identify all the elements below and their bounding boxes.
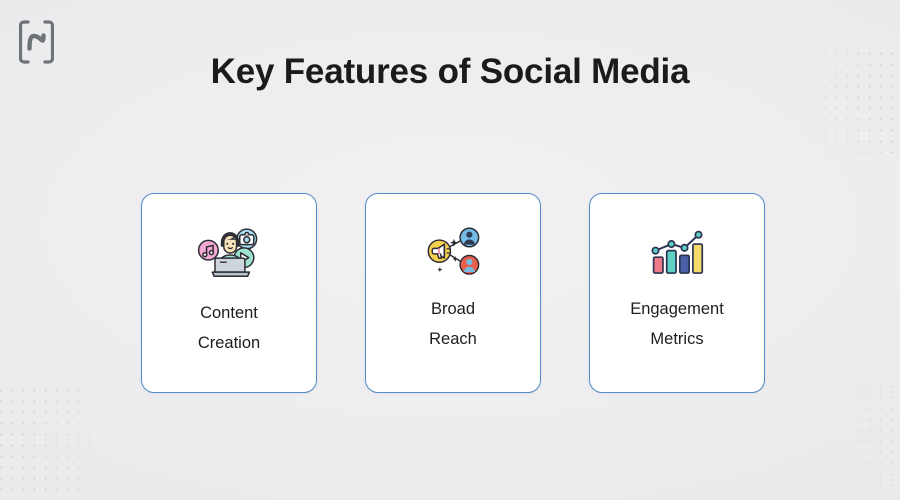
broad-reach-icon: [423, 212, 483, 292]
feature-card-label: Content Creation: [198, 298, 260, 358]
content-creation-icon: [195, 210, 263, 296]
feature-card-broad-reach[interactable]: Broad Reach: [365, 193, 541, 393]
page-title: Key Features of Social Media: [0, 52, 900, 92]
slide-canvas: Key Features of Social Media: [0, 0, 900, 500]
feature-card-content-creation[interactable]: Content Creation: [141, 193, 317, 393]
feature-card-list: Content Creation: [141, 193, 765, 393]
engagement-metrics-icon: [648, 212, 706, 292]
feature-card-label: Broad Reach: [429, 294, 477, 354]
dot-pattern-bottom-right-icon: [776, 381, 900, 496]
dot-pattern-bottom-left-icon: [0, 385, 136, 500]
feature-card-engagement-metrics[interactable]: Engagement Metrics: [589, 193, 765, 393]
feature-card-label: Engagement Metrics: [630, 294, 724, 354]
